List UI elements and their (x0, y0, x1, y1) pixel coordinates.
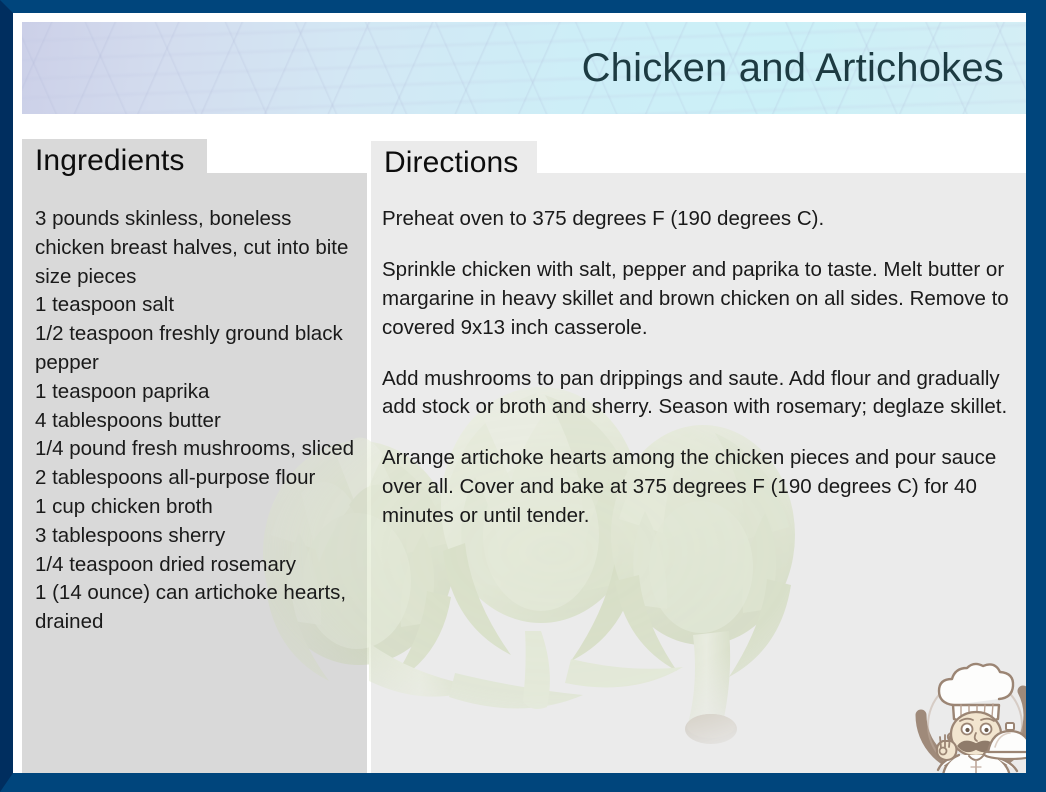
recipe-slide: Chicken and Artichokes (0, 0, 1046, 792)
tab-ingredients-label: Ingredients (35, 144, 185, 178)
directions-list: Preheat oven to 375 degrees F (190 degre… (382, 205, 1022, 531)
page-title: Chicken and Artichokes (582, 47, 1004, 89)
direction-step: Sprinkle chicken with salt, pepper and p… (382, 256, 1022, 343)
chef-logo-icon (909, 659, 1041, 791)
direction-step: Add mushrooms to pan drippings and saute… (382, 365, 1022, 423)
direction-step: Preheat oven to 375 degrees F (190 degre… (382, 205, 1022, 234)
tab-directions[interactable]: Directions (371, 141, 537, 185)
direction-step: Arrange artichoke hearts among the chick… (382, 444, 1022, 531)
tab-ingredients[interactable]: Ingredients (22, 139, 207, 183)
title-banner: Chicken and Artichokes (22, 22, 1026, 114)
ingredients-list: 3 pounds skinless, boneless chicken brea… (35, 205, 365, 637)
slide-page: Chicken and Artichokes (13, 13, 1026, 773)
tab-directions-label: Directions (384, 146, 518, 180)
